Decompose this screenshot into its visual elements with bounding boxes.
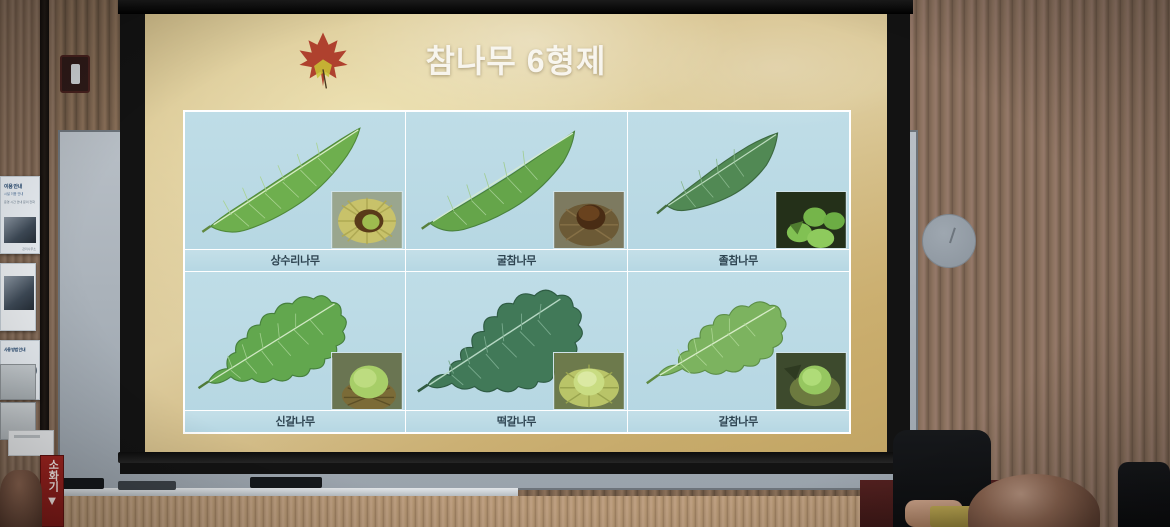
audience-member-head [0, 470, 42, 527]
grid-cell: 떡갈나무 [406, 272, 627, 432]
poster-title: 사용 방법 안내 [1, 341, 39, 353]
poster-title: 이용 안내 [1, 177, 39, 190]
leaf-illustration [628, 272, 849, 410]
oak-species-grid: 상수리나무 [183, 110, 851, 434]
projection-screen-roller [118, 0, 913, 14]
whiteboard-eraser [250, 477, 322, 488]
wall-cabinet [0, 364, 36, 400]
poster-subtitle: 시설 이용 안내 [1, 190, 39, 197]
species-label: 떡갈나무 [406, 410, 626, 432]
acorn-photo-inset [775, 191, 847, 249]
acorn-photo-inset [331, 352, 403, 410]
poster-photo [4, 217, 36, 243]
leaf-illustration [406, 112, 626, 249]
projection-screen-weight-bar [118, 452, 913, 463]
wall-poster: 이용 안내 시설 이용 안내 운영 시간 안내 문의 전화 관리사무소 [0, 176, 40, 254]
species-label: 갈참나무 [628, 410, 849, 432]
acorn-photo [554, 192, 624, 248]
chair [1118, 462, 1170, 527]
leaf-illustration [185, 112, 405, 249]
slide-title: 참나무 6형제 [145, 36, 887, 82]
species-label: 졸참나무 [628, 249, 849, 271]
grid-cell: 졸참나무 [628, 112, 849, 272]
projection-screen-surface: 참나무 6형제 [145, 14, 887, 452]
species-label: 굴참나무 [406, 249, 626, 271]
leaf-illustration [185, 272, 405, 410]
wall-control-box [8, 430, 54, 456]
acorn-photo [776, 353, 846, 409]
grid-cell: 상수리나무 [185, 112, 406, 272]
acorn-photo [332, 192, 402, 248]
acorn-photo-inset [331, 191, 403, 249]
leaf-illustration [628, 112, 849, 249]
acorn-photo [332, 353, 402, 409]
poster-photo [4, 276, 34, 310]
species-label: 신갈나무 [185, 410, 405, 432]
green-acorns-photo [776, 192, 846, 248]
grid-cell: 굴참나무 [406, 112, 627, 272]
whiteboard-eraser [62, 478, 104, 489]
wall-poster [0, 263, 36, 331]
fire-extinguisher-label: 소화기 [46, 459, 58, 492]
down-arrow-icon: ▼ [46, 494, 59, 507]
wall-clock-icon [922, 214, 976, 268]
grid-cell: 신갈나무 [185, 272, 406, 432]
speaker-icon [60, 55, 90, 93]
whiteboard-eraser [118, 481, 176, 490]
species-label: 상수리나무 [185, 249, 405, 271]
fire-extinguisher-sign: 소화기 ▼ [40, 455, 64, 527]
presentation-slide: 참나무 6형제 [145, 14, 887, 452]
poster-footer: 관리사무소 [22, 247, 36, 251]
lower-wall-wood-trim [0, 496, 905, 527]
acorn-photo [554, 353, 624, 409]
grid-cell: 갈참나무 [628, 272, 849, 432]
classroom-photo: 이용 안내 시설 이용 안내 운영 시간 안내 문의 전화 관리사무소 사용 방… [0, 0, 1170, 527]
leaf-illustration [406, 272, 626, 410]
poster-body: 운영 시간 안내 문의 전화 [1, 197, 39, 208]
acorn-photo-inset [553, 352, 625, 410]
acorn-photo-inset [553, 191, 625, 249]
acorn-photo-inset [775, 352, 847, 410]
